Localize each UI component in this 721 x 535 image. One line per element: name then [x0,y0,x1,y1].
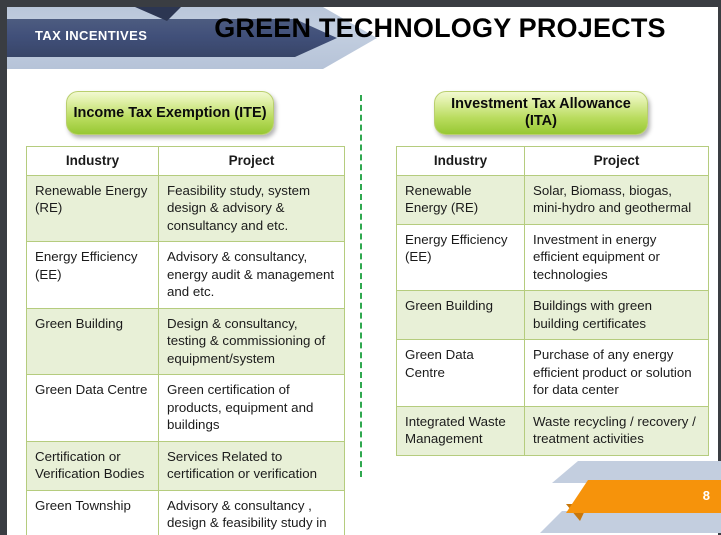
cell-project: Design & consultancy, testing & commissi… [159,308,345,375]
cell-industry: Green Data Centre [397,340,525,407]
column-header-project: Project [525,147,709,176]
table-header-row: Industry Project [27,147,345,176]
footer-band-upper [552,461,721,483]
banner-label: TAX INCENTIVES [35,28,147,43]
column-header-industry: Industry [27,147,159,176]
table-row: Renewable Energy (RE)Solar, Biomass, bio… [397,175,709,224]
column-header-project: Project [159,147,345,176]
frame-top-strip [0,0,721,7]
table-row: Energy Efficiency (EE)Investment in ener… [397,224,709,291]
page-title: GREEN TECHNOLOGY PROJECTS [210,12,670,45]
table-row: Energy Efficiency (EE)Advisory & consult… [27,242,345,309]
column-header-industry: Industry [397,147,525,176]
table-row: Green Data CentreGreen certification of … [27,375,345,442]
cell-industry: Certification or Verification Bodies [27,441,159,490]
cell-industry: Renewable Energy (RE) [397,175,525,224]
cell-project: Advisory & consultancy, energy audit & m… [159,242,345,309]
table-row: Green Data CentrePurchase of any energy … [397,340,709,407]
cell-industry: Renewable Energy (RE) [27,175,159,242]
cell-industry: Green Township [27,490,159,535]
cell-project: Green certification of products, equipme… [159,375,345,442]
ite-table: Industry Project Renewable Energy (RE)Fe… [26,146,345,535]
table-row: Green TownshipAdvisory & consultancy , d… [27,490,345,535]
footer-orange-ribbon [566,480,721,513]
slide-canvas: TAX INCENTIVES GREEN TECHNOLOGY PROJECTS… [0,0,721,535]
ita-table-body: Renewable Energy (RE)Solar, Biomass, bio… [397,175,709,455]
cell-industry: Green Building [397,291,525,340]
cell-industry: Green Data Centre [27,375,159,442]
cell-project: Advisory & consultancy , design & feasib… [159,490,345,535]
table-header-row: Industry Project [397,147,709,176]
frame-left-strip [0,0,7,535]
cell-project: Waste recycling / recovery / treatment a… [525,406,709,455]
cell-project: Buildings with green building certificat… [525,291,709,340]
vertical-dashed-divider [360,95,362,477]
ite-heading-label: Income Tax Exemption (ITE) [73,105,266,122]
cell-project: Feasibility study, system design & advis… [159,175,345,242]
cell-project: Services Related to certification or ver… [159,441,345,490]
cell-industry: Energy Efficiency (EE) [27,242,159,309]
ite-table-body: Renewable Energy (RE)Feasibility study, … [27,175,345,535]
ita-heading-label: Investment Tax Allowance (ITA) [435,96,647,130]
table-row: Renewable Energy (RE)Feasibility study, … [27,175,345,242]
table-row: Green BuildingDesign & consultancy, test… [27,308,345,375]
cell-project: Purchase of any energy efficient product… [525,340,709,407]
cell-industry: Energy Efficiency (EE) [397,224,525,291]
cell-project: Investment in energy efficient equipment… [525,224,709,291]
cell-industry: Integrated Waste Management [397,406,525,455]
footer-band-lower [540,511,721,533]
table-row: Certification or Verification BodiesServ… [27,441,345,490]
ita-table: Industry Project Renewable Energy (RE)So… [396,146,709,456]
ita-heading-pill: Investment Tax Allowance (ITA) [434,91,648,135]
table-row: Green BuildingBuildings with green build… [397,291,709,340]
table-row: Integrated Waste ManagementWaste recycli… [397,406,709,455]
page-number: 8 [703,488,710,503]
cell-industry: Green Building [27,308,159,375]
cell-project: Solar, Biomass, biogas, mini-hydro and g… [525,175,709,224]
ite-heading-pill: Income Tax Exemption (ITE) [66,91,274,135]
